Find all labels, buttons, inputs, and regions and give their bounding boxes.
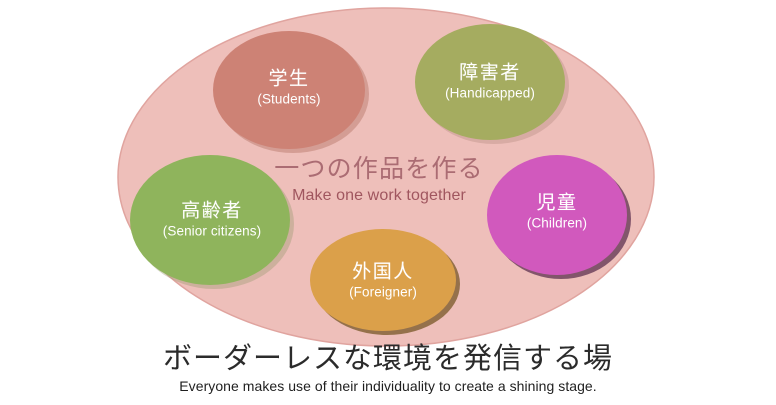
children-bubble[interactable] [487,155,627,275]
diagram-stage: 学生 (Students) 障害者 (Handicapped) 高齢者 (Sen… [0,0,776,405]
senior-citizens-bubble[interactable] [130,155,290,285]
students-bubble[interactable] [213,31,365,149]
venn-diagram-svg [0,0,776,405]
handicapped-bubble[interactable] [415,24,565,140]
foreigner-bubble[interactable] [310,229,456,331]
